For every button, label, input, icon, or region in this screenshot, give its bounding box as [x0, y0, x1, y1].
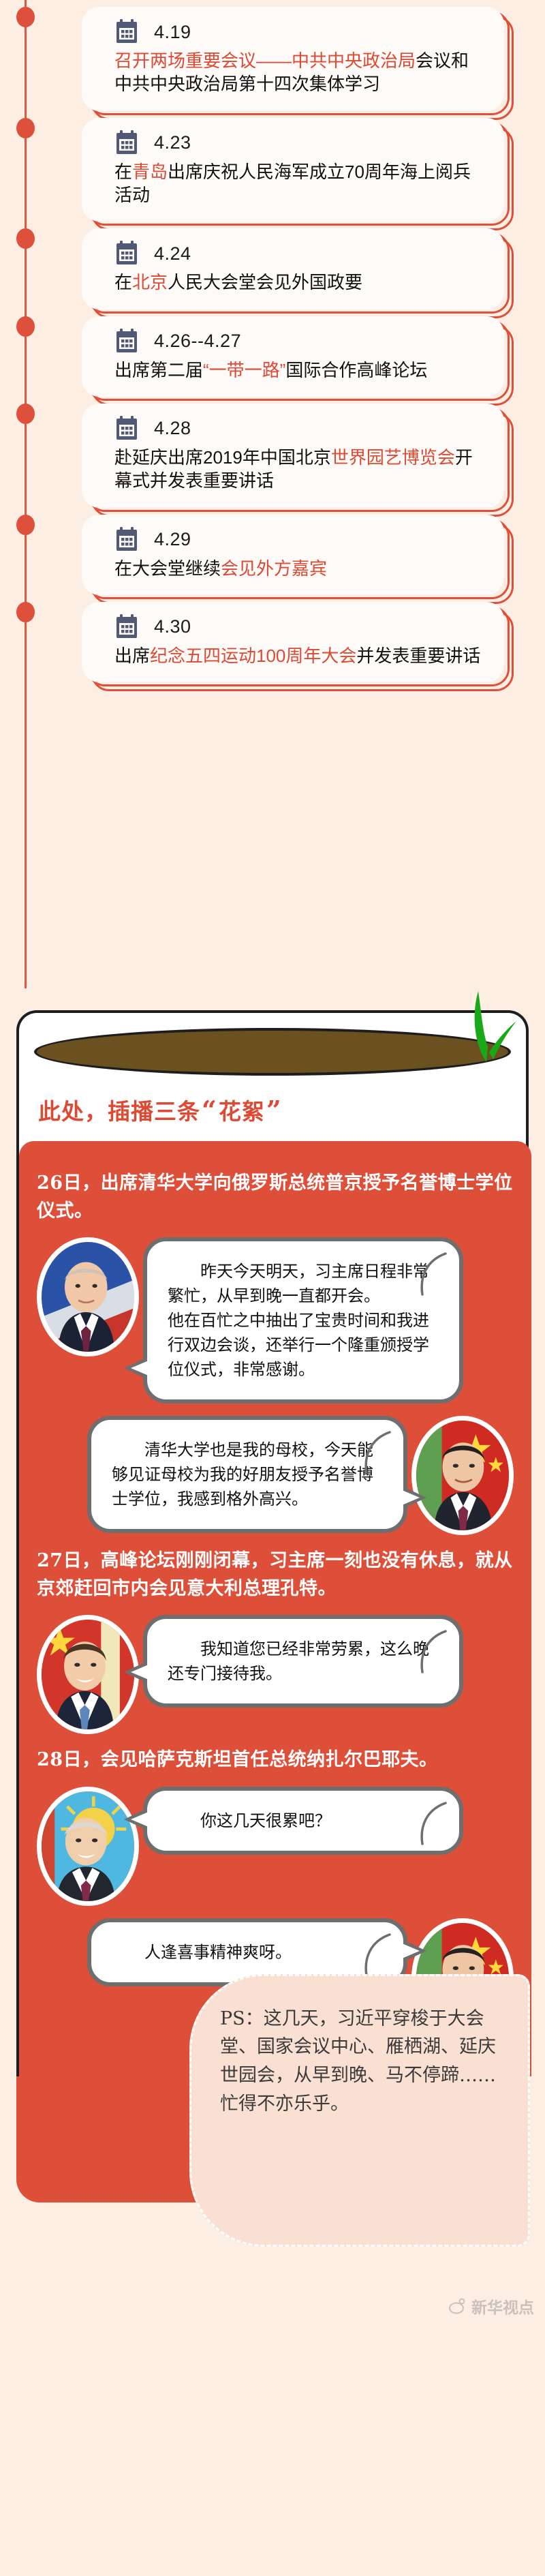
watermark-label: 新华视点	[471, 2294, 534, 2318]
bubble-line: 清华大学也是我的母校，今天能够见证母校为我的好朋友授予名誉博士学位，我感到格外高…	[112, 1438, 386, 1511]
bubble-tail	[124, 1808, 147, 1830]
timeline-card-wrap: 4.24在北京人民大会堂会见外国政要	[82, 228, 518, 309]
card-header: 4.26--4.27	[114, 329, 481, 354]
card-header: 4.28	[114, 416, 481, 442]
speech-exchange: 你这几天很累吧？	[37, 1787, 514, 1906]
bubble-line: 人逢喜事精神爽呀。	[112, 1940, 386, 1965]
timeline-card[interactable]: 4.29在大会堂继续会见外方嘉宾	[82, 515, 504, 595]
weibo-icon	[448, 2297, 466, 2315]
event-description: 出席第二届“一带一路”国际合作高峰论坛	[114, 359, 481, 382]
timeline-card[interactable]: 4.19召开两场重要会议——中共中央政治局会议和中共中央政治局第十四次集体学习	[82, 7, 504, 111]
bubble-tail	[124, 1661, 147, 1683]
timeline-card-wrap: 4.29在大会堂继续会见外方嘉宾	[82, 515, 518, 595]
timeline-event[interactable]: 4.26--4.27出席第二届“一带一路”国际合作高峰论坛	[0, 316, 545, 397]
speech-exchange: 我知道您已经非常劳累，这么晚还专门接待我。	[37, 1615, 514, 1734]
event-description: 赴延庆出席2019年中国北京世界园艺博览会开幕式并发表重要讲话	[114, 446, 481, 493]
event-description: 召开两场重要会议——中共中央政治局会议和中共中央政治局第十四次集体学习	[114, 49, 481, 96]
pot-body: 此处，插播三条“花絮” 26日，出席清华大学向俄罗斯总统普京授予名誉博士学位仪式…	[16, 1010, 529, 2077]
nazarbayev-avatar	[37, 1787, 139, 1906]
event-text-segment: 出席第二届	[114, 360, 203, 380]
event-text-segment: “一带一路”	[203, 360, 285, 380]
event-date: 4.24	[154, 243, 191, 264]
speech-bubble: 昨天今天明天，习主席日程非常繁忙，从早到晚一直都开会。他在百忙之中抽出了宝贵时间…	[143, 1237, 463, 1404]
calendar-icon	[114, 241, 139, 267]
timeline-card-wrap: 4.26--4.27出席第二届“一带一路”国际合作高峰论坛	[82, 316, 518, 397]
ps-line-1: PS：这几天，习近平穿梭于	[220, 2008, 448, 2029]
event-text-segment: 在	[114, 162, 132, 182]
timeline-event[interactable]: 4.30出席纪念五四运动100周年大会并发表重要讲话	[0, 602, 545, 682]
event-text-segment: 纪念五四运动100周年大会	[150, 646, 356, 666]
speech-bubble: 我知道您已经非常劳累，这么晚还专门接待我。	[143, 1615, 463, 1708]
pot-mouth	[34, 1028, 511, 1076]
pot-title-pre: 此处，插播三条	[38, 1098, 200, 1125]
timeline-card[interactable]: 4.24在北京人民大会堂会见外国政要	[82, 228, 504, 309]
bubble-tail	[403, 1940, 426, 1962]
quote-open: “	[202, 1095, 217, 1125]
timeline-dot	[16, 404, 35, 424]
timeline-dot	[16, 515, 35, 535]
timeline-card-wrap: 4.28赴延庆出席2019年中国北京世界园艺博览会开幕式并发表重要讲话	[82, 404, 518, 508]
speech-exchange: 昨天今天明天，习主席日程非常繁忙，从早到晚一直都开会。他在百忙之中抽出了宝贵时间…	[37, 1237, 514, 1404]
calendar-icon	[114, 527, 139, 553]
timeline-card-wrap: 4.30出席纪念五四运动100周年大会并发表重要讲话	[82, 602, 518, 682]
event-date: 4.19	[154, 22, 191, 43]
timeline-dot	[16, 7, 35, 27]
story-heading: 28日，会见哈萨克斯坦首任总统纳扎尔巴耶夫。	[37, 1746, 514, 1774]
pot-title-key: 花絮	[219, 1098, 265, 1125]
card-header: 4.24	[114, 241, 481, 267]
bubble-gloss-icon	[420, 1630, 448, 1675]
timeline-card[interactable]: 4.26--4.27出席第二届“一带一路”国际合作高峰论坛	[82, 316, 504, 397]
bubble-line: 我知道您已经非常劳累，这么晚还专门接待我。	[168, 1637, 441, 1686]
bubble-line: 昨天今天明天，习主席日程非常繁忙，从早到晚一直都开会。	[168, 1259, 441, 1308]
bubble-line: 你这几天很累吧？	[168, 1808, 441, 1833]
event-text-segment: 出席庆祝人民海军成立70周年海上阅兵活动	[114, 162, 471, 205]
timeline-event[interactable]: 4.19召开两场重要会议——中共中央政治局会议和中共中央政治局第十四次集体学习	[0, 7, 545, 111]
timeline-dot	[16, 602, 35, 622]
speech-exchange: 清华大学也是我的母校，今天能够见证母校为我的好朋友授予名誉博士学位，我感到格外高…	[37, 1416, 514, 1535]
event-text-segment: 并发表重要讲话	[356, 646, 480, 666]
timeline-dot	[16, 316, 35, 337]
timeline-dot	[16, 228, 35, 249]
green-sprout-icon	[451, 982, 516, 1063]
timeline-section: 4.19召开两场重要会议——中共中央政治局会议和中共中央政治局第十四次集体学习4…	[0, 0, 545, 1016]
event-text-segment: 北京	[132, 272, 168, 292]
event-text-segment: 会见外方嘉宾	[221, 558, 327, 579]
timeline-event[interactable]: 4.24在北京人民大会堂会见外国政要	[0, 228, 545, 309]
event-description: 在大会堂继续会见外方嘉宾	[114, 557, 481, 580]
event-date: 4.30	[154, 616, 191, 637]
pot-title: 此处，插播三条“花絮”	[38, 1093, 526, 1126]
putin-avatar	[37, 1237, 139, 1357]
timeline-card-wrap: 4.19召开两场重要会议——中共中央政治局会议和中共中央政治局第十四次集体学习	[82, 7, 518, 111]
event-text-segment: 在大会堂继续	[114, 558, 221, 579]
event-text-segment: 出席	[114, 646, 150, 666]
event-date: 4.26--4.27	[154, 331, 241, 352]
xi-jinping-avatar	[411, 1416, 514, 1535]
timeline-card[interactable]: 4.28赴延庆出席2019年中国北京世界园艺博览会开幕式并发表重要讲话	[82, 404, 504, 508]
ps-section: PS：这几天，习近平穿梭于大会堂、国家会议中心、雁栖湖、延庆世园会，从早到晚、马…	[0, 2076, 545, 2322]
bubble-gloss-icon	[364, 1431, 392, 1476]
event-text-segment: 赴延庆出席2019年中国北京	[114, 447, 331, 468]
calendar-icon	[114, 19, 139, 45]
story-heading: 27日，高峰论坛刚刚闭幕，习主席一刻也没有休息，就从京郊赶回市内会见意大利总理孔…	[37, 1547, 514, 1603]
timeline-dot	[16, 118, 35, 138]
timeline-card[interactable]: 4.30出席纪念五四运动100周年大会并发表重要讲话	[82, 602, 504, 682]
card-header: 4.29	[114, 527, 481, 553]
timeline-card[interactable]: 4.23在青岛出席庆祝人民海军成立70周年海上阅兵活动	[82, 118, 504, 222]
card-header: 4.23	[114, 130, 481, 156]
speech-bubble: 清华大学也是我的母校，今天能够见证母校为我的好朋友授予名誉博士学位，我感到格外高…	[87, 1416, 407, 1533]
event-text-segment: 国际合作高峰论坛	[285, 360, 427, 380]
card-header: 4.30	[114, 614, 481, 640]
bubble-gloss-icon	[420, 1252, 448, 1297]
pot-header-section: 此处，插播三条“花絮” 26日，出席清华大学向俄罗斯总统普京授予名誉博士学位仪式…	[0, 1010, 545, 2077]
event-text-segment: 世界园艺博览会	[331, 447, 455, 468]
event-text-segment: 青岛	[132, 162, 168, 182]
timeline-event[interactable]: 4.29在大会堂继续会见外方嘉宾	[0, 515, 545, 595]
timeline-card-wrap: 4.23在青岛出席庆祝人民海军成立70周年海上阅兵活动	[82, 118, 518, 222]
event-date: 4.28	[154, 418, 191, 439]
timeline-list: 4.19召开两场重要会议——中共中央政治局会议和中共中央政治局第十四次集体学习4…	[0, 7, 545, 682]
bubble-tail	[403, 1487, 426, 1509]
event-text-segment: 人民大会堂会见外国政要	[168, 272, 362, 292]
event-date: 4.29	[154, 529, 191, 550]
event-text-segment: 在	[114, 272, 132, 292]
timeline-event[interactable]: 4.28赴延庆出席2019年中国北京世界园艺博览会开幕式并发表重要讲话	[0, 404, 545, 508]
calendar-icon	[114, 416, 139, 442]
event-description: 在青岛出席庆祝人民海军成立70周年海上阅兵活动	[114, 160, 481, 207]
timeline-event[interactable]: 4.23在青岛出席庆祝人民海军成立70周年海上阅兵活动	[0, 118, 545, 222]
quote-close: ”	[266, 1095, 282, 1125]
bubble-line: 他在百忙之中抽出了宝贵时间和我进行双边会谈，还举行一个隆重颁授学位仪式，非常感谢…	[168, 1308, 441, 1382]
bubble-gloss-icon	[420, 1802, 448, 1847]
ps-box: PS：这几天，习近平穿梭于大会堂、国家会议中心、雁栖湖、延庆世园会，从早到晚、马…	[189, 1974, 530, 2247]
bubble-tail	[124, 1357, 147, 1379]
event-date: 4.23	[154, 132, 191, 153]
event-description: 在北京人民大会堂会见外国政要	[114, 271, 481, 294]
ps-text: PS：这几天，习近平穿梭于大会堂、国家会议中心、雁栖湖、延庆世园会，从早到晚、马…	[220, 2005, 505, 2119]
bubble-gloss-icon	[364, 1933, 392, 1978]
event-description: 出席纪念五四运动100周年大会并发表重要讲话	[114, 644, 481, 667]
event-text-segment: 召开两场重要会议——中共中央政治局	[114, 50, 416, 71]
speech-bubble: 你这几天很累吧？	[143, 1787, 463, 1855]
stories-red-panel: 26日，出席清华大学向俄罗斯总统普京授予名誉博士学位仪式。昨天今天明天，习主席日…	[19, 1141, 531, 2077]
watermark: 新华视点	[448, 2294, 534, 2318]
story-heading: 26日，出席清华大学向俄罗斯总统普京授予名誉博士学位仪式。	[37, 1170, 514, 1225]
card-header: 4.19	[114, 19, 481, 45]
calendar-icon	[114, 130, 139, 156]
calendar-icon	[114, 614, 139, 640]
calendar-icon	[114, 329, 139, 354]
